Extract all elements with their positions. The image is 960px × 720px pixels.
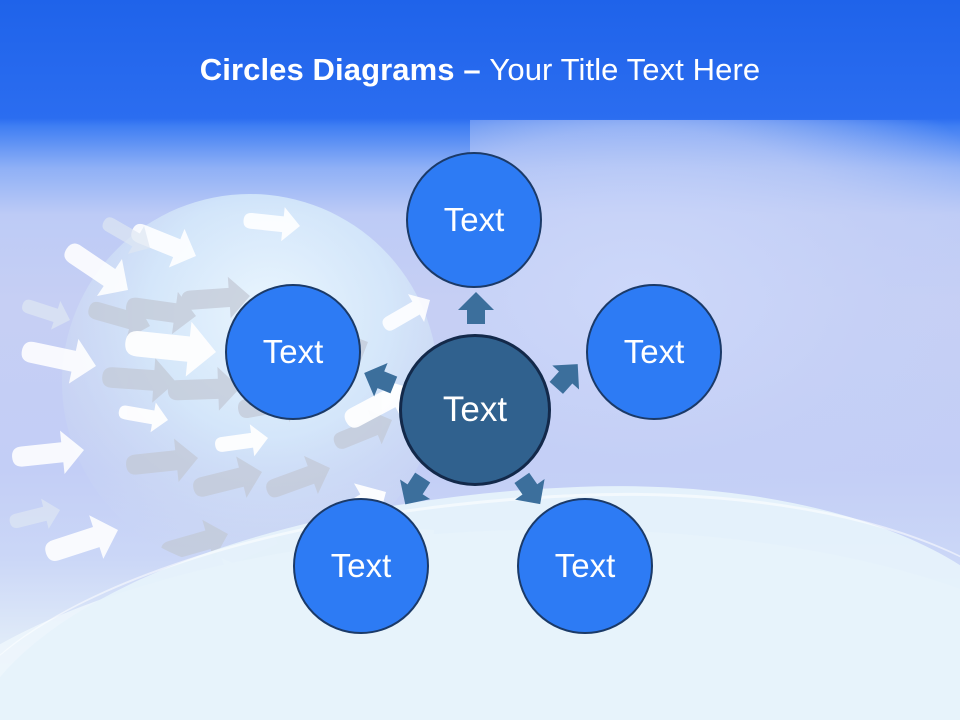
satellite-node-top[interactable]: Text	[406, 152, 542, 288]
satellite-node-bottom-right[interactable]: Text	[517, 498, 653, 634]
circles-diagram: Text Text Text Text Text Text	[0, 0, 960, 720]
connector-arrow-up	[458, 292, 494, 324]
slide-canvas: Circles Diagrams – Your Title Text Here	[0, 0, 960, 720]
center-hub-node[interactable]: Text	[399, 334, 551, 486]
satellite-node-bottom-right-label: Text	[555, 549, 616, 582]
satellite-node-right-label: Text	[624, 335, 685, 368]
connector-arrow-left	[357, 356, 400, 401]
satellite-node-right[interactable]: Text	[586, 284, 722, 420]
connector-arrow-down-left	[390, 468, 438, 514]
satellite-node-bottom-left-label: Text	[331, 549, 392, 582]
connector-arrow-up-right	[543, 352, 591, 400]
satellite-node-left[interactable]: Text	[225, 284, 361, 420]
satellite-node-bottom-left[interactable]: Text	[293, 498, 429, 634]
center-hub-node-label: Text	[443, 392, 507, 427]
satellite-node-top-label: Text	[444, 203, 505, 236]
satellite-node-left-label: Text	[263, 335, 324, 368]
